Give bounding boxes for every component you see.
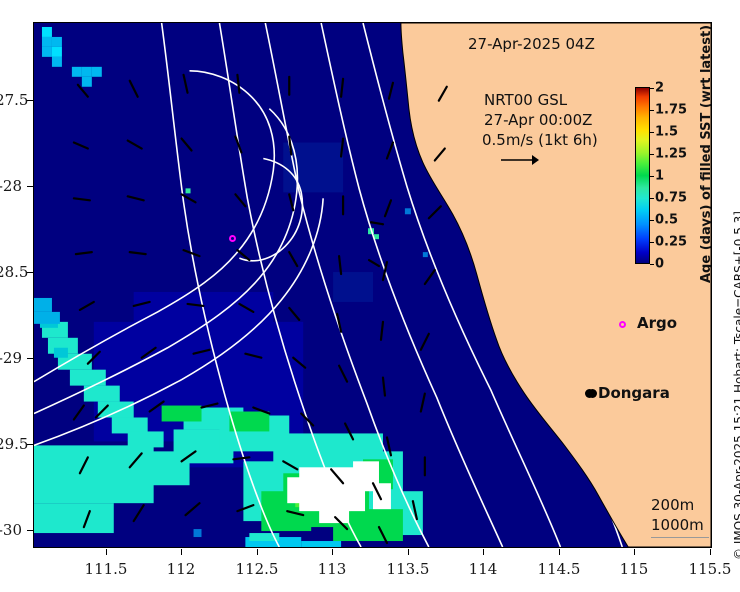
y-tick-label: -28.5 (0, 263, 22, 281)
colorbar-tick-label: 0.25 (655, 235, 687, 250)
bathy-200m-label: 200m (651, 496, 694, 514)
x-tick (106, 549, 107, 555)
argo-legend-marker (619, 321, 626, 328)
colorbar-tick-label: 0.75 (655, 191, 687, 206)
figure-canvas: 27-Apr-2025 04Z NRT00 GSL 27-Apr 00:00Z … (0, 0, 740, 592)
x-tick (710, 549, 711, 555)
current-vector-scale-label: 0.5m/s (1kt 6h) (482, 131, 598, 149)
x-tick (181, 549, 182, 555)
colorbar-title: Age (days) of filled SST (wrt latest) (699, 25, 712, 283)
colorbar-tick (650, 242, 654, 243)
colorbar-tick (650, 88, 654, 89)
colorbar-tick-label: 1.5 (655, 125, 678, 140)
x-tick-label: 114.5 (538, 560, 581, 578)
x-tick (332, 549, 333, 555)
y-tick (27, 358, 33, 359)
argo-legend-label: Argo (637, 314, 677, 332)
colorbar-tick-label: 0 (655, 257, 664, 272)
x-tick-label: 115 (620, 560, 649, 578)
colorbar-tick (650, 176, 654, 177)
y-tick-label: -27.5 (0, 91, 22, 109)
x-tick-label: 115.5 (689, 560, 732, 578)
colorbar-tick-label: 1.25 (655, 147, 687, 162)
colorbar-tick-label: 1.75 (655, 103, 687, 118)
y-tick-label: -28 (0, 177, 22, 195)
y-tick-label: -29 (0, 349, 22, 367)
x-tick-label: 113 (318, 560, 347, 578)
current-vectors (34, 23, 711, 547)
x-tick-label: 112.5 (236, 560, 279, 578)
x-tick-label: 113.5 (387, 560, 430, 578)
east-arrow-icon (500, 153, 540, 167)
map-plot-area[interactable]: 27-Apr-2025 04Z NRT00 GSL 27-Apr 00:00Z … (33, 22, 712, 548)
y-tick-label: -30 (0, 521, 22, 539)
x-tick-label: 114 (469, 560, 498, 578)
x-tick (408, 549, 409, 555)
current-product-label: NRT00 GSL (484, 91, 567, 109)
x-tick (257, 549, 258, 555)
colorbar-tick (650, 264, 654, 265)
colorbar-tick-label: 1 (655, 169, 664, 184)
current-valid-time-label: 27-Apr 00:00Z (484, 111, 592, 129)
timestamp-label: 27-Apr-2025 04Z (468, 35, 595, 53)
x-tick (483, 549, 484, 555)
dongara-legend-label: Dongara (598, 384, 670, 402)
colorbar-tick (650, 220, 654, 221)
colorbar-tick (650, 154, 654, 155)
dongara-legend-marker (585, 389, 594, 398)
x-tick-label: 112 (167, 560, 196, 578)
bathy-scale-line (651, 537, 709, 538)
y-tick-label: -29.5 (0, 435, 22, 453)
colorbar-tick (650, 198, 654, 199)
colorbar-tick-label: 2 (655, 81, 664, 96)
y-tick (27, 530, 33, 531)
bathy-1000m-label: 1000m (651, 516, 704, 534)
x-tick (634, 549, 635, 555)
y-tick (27, 186, 33, 187)
argo-float-marker[interactable] (229, 235, 236, 242)
x-tick-label: 111.5 (85, 560, 128, 578)
colorbar-gradient (635, 87, 650, 264)
colorbar-tick (650, 110, 654, 111)
x-tick (559, 549, 560, 555)
colorbar-tick-label: 0.5 (655, 213, 678, 228)
colorbar-tick (650, 132, 654, 133)
credit-text: © IMOS 30-Apr-2025 15:21 Hobart; Tscale=… (732, 211, 740, 560)
